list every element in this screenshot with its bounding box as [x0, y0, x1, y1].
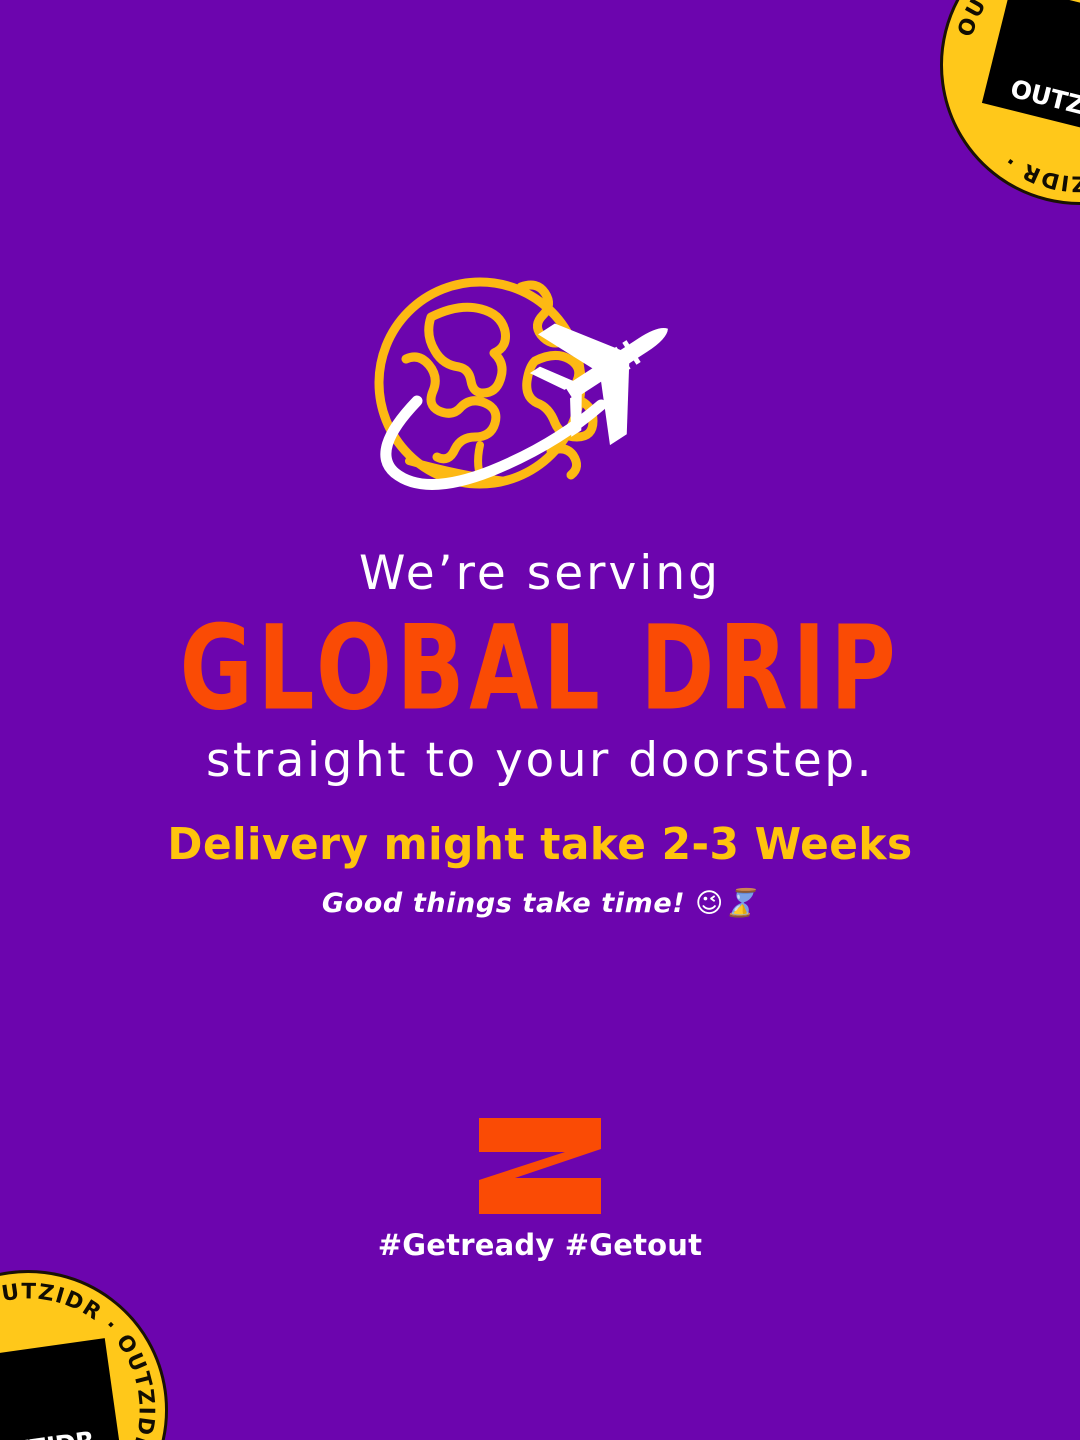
outzidr-z-logo-icon [479, 1118, 601, 1214]
headline-line-1: We’re serving [0, 548, 1080, 601]
badge-wordmark-prefix: OUT [1008, 75, 1069, 113]
delivery-headline: Delivery might take 2-3 Weeks [22, 820, 1059, 871]
footer-hashtags: #Getready #Getout [378, 1228, 702, 1262]
badge-wordmark-prefix: OUT [0, 1436, 31, 1440]
outzidr-badge-top-right: OUTZIDR · OUTZIDR · OUTZIDR · OUTZIDR · … [910, 0, 1080, 235]
footer-block: #Getready #Getout [0, 1118, 1080, 1262]
outzidr-badge-bottom-left: OUTZIDR · OUTZIDR · OUTZIDR · OUTZIDR · … [0, 1252, 186, 1440]
globe-airplane-illustration [355, 275, 715, 515]
headline-line-2-global-drip: GLOBAL DRIP [38, 607, 1042, 730]
badge-core-bottom-left: OUTZIDR [0, 1338, 122, 1440]
headline-block: We’re serving GLOBAL DRIP straight to yo… [0, 548, 1080, 787]
delivery-info-block: Delivery might take 2-3 Weeks Good thing… [0, 820, 1080, 919]
badge-wordmark-suffix: IDR [45, 1427, 96, 1440]
poster-canvas: OUTZIDR · OUTZIDR · OUTZIDR · OUTZIDR · … [0, 0, 1080, 1440]
headline-line-3: straight to your doorstep. [0, 735, 1080, 787]
delivery-subtext: Good things take time! 😉⌛ [0, 887, 1080, 919]
